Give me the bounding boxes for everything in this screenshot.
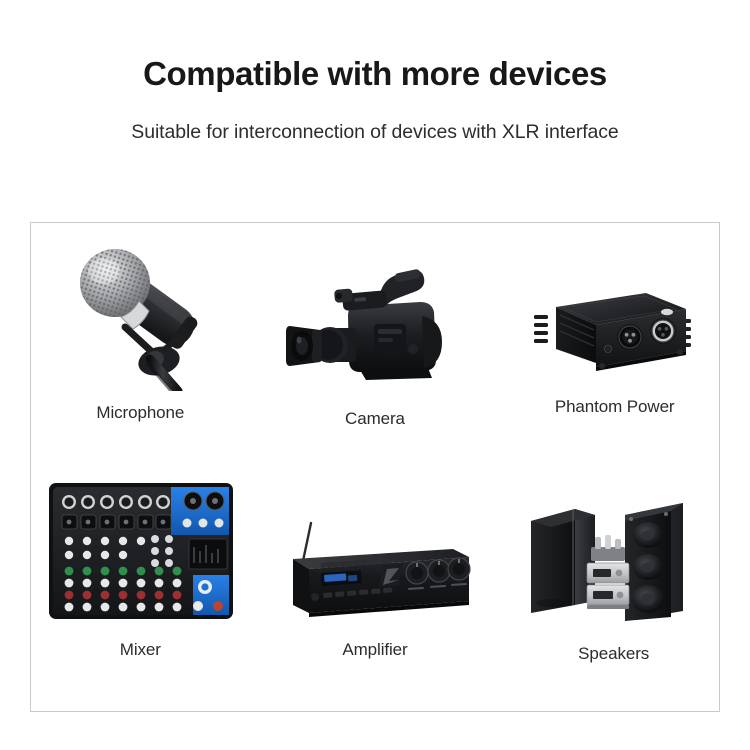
device-cell-microphone: Microphone <box>35 229 262 468</box>
speakers-photo <box>500 476 727 634</box>
audio-mixer-photo <box>28 472 255 630</box>
device-cell-phantom-power: Phantom Power <box>488 229 715 468</box>
device-cell-amplifier: Amplifier <box>262 468 489 707</box>
device-label-amplifier: Amplifier <box>342 640 407 660</box>
amplifier-receiver-photo <box>264 490 491 648</box>
device-label-microphone: Microphone <box>96 403 184 423</box>
camcorder-photo <box>262 245 489 403</box>
page-title: Compatible with more devices <box>0 56 750 92</box>
device-cell-camera: Camera <box>262 229 489 468</box>
device-label-speakers: Speakers <box>578 644 649 664</box>
device-label-mixer: Mixer <box>120 640 161 660</box>
page-header: Compatible with more devices Suitable fo… <box>0 0 750 145</box>
microphone-photo <box>29 233 256 391</box>
phantom-power-box-photo <box>500 255 727 413</box>
device-label-camera: Camera <box>345 409 405 429</box>
device-grid: Microphone <box>31 223 719 711</box>
device-cell-speakers: Speakers <box>488 468 715 707</box>
device-cell-mixer: Mixer <box>35 468 262 707</box>
page-subtitle: Suitable for interconnection of devices … <box>0 121 750 144</box>
device-compatibility-card: Microphone <box>30 222 720 712</box>
device-label-phantom-power: Phantom Power <box>555 397 675 417</box>
